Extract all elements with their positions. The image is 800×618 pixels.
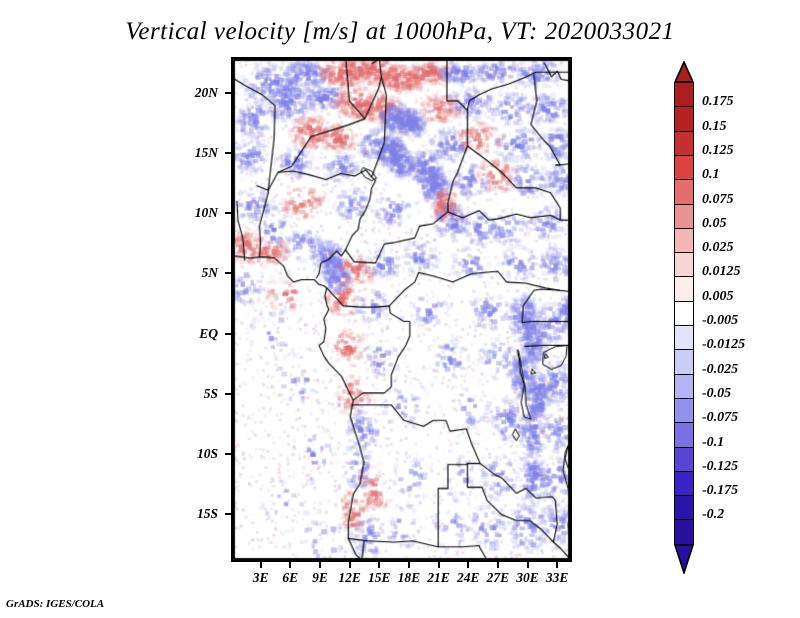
colorbar-bottom-arrow — [674, 544, 694, 574]
colorbar-swatch — [674, 276, 694, 302]
y-axis-label: 10N — [158, 205, 218, 221]
colorbar-tick-label: 0.025 — [702, 241, 734, 255]
y-axis-tick — [225, 272, 231, 274]
x-axis-tick — [438, 562, 440, 568]
y-axis-tick — [225, 152, 231, 154]
colorbar-swatch — [674, 447, 694, 473]
x-axis-tick — [556, 562, 558, 568]
colorbar-swatch — [674, 228, 694, 254]
x-axis-label: 33E — [537, 570, 577, 586]
y-axis-label: 5S — [158, 386, 218, 402]
vertical-velocity-heatmap — [233, 59, 570, 560]
colorbar-swatch — [674, 349, 694, 375]
y-axis-label: 15N — [158, 145, 218, 161]
colorbar-tick-label: -0.025 — [702, 363, 738, 377]
y-axis-tick — [225, 333, 231, 335]
colorbar-swatch — [674, 325, 694, 351]
colorbar-swatch — [674, 82, 694, 108]
y-axis-tick — [225, 393, 231, 395]
y-axis-tick — [225, 513, 231, 515]
x-axis-tick — [319, 562, 321, 568]
y-axis-tick — [225, 92, 231, 94]
x-axis-tick — [378, 562, 380, 568]
colorbar-swatch — [674, 398, 694, 424]
colorbar-swatch — [674, 204, 694, 230]
x-axis-tick — [349, 562, 351, 568]
colorbar-swatch — [674, 471, 694, 497]
y-axis-tick — [225, 453, 231, 455]
y-axis-label: 5N — [158, 265, 218, 281]
colorbar-top-arrow — [674, 61, 694, 83]
x-axis-tick — [497, 562, 499, 568]
x-axis-tick — [527, 562, 529, 568]
y-axis-label: 20N — [158, 85, 218, 101]
colorbar-tick-label: -0.05 — [702, 387, 731, 401]
colorbar-swatch — [674, 131, 694, 157]
y-axis-label: 10S — [158, 446, 218, 462]
colorbar-tick-label: -0.175 — [702, 484, 738, 498]
colorbar-swatch — [674, 519, 694, 545]
colorbar-swatch — [674, 106, 694, 132]
footer-credit: GrADS: IGES/COLA — [6, 598, 104, 610]
colorbar-swatch — [674, 374, 694, 400]
colorbar-tick-label: 0.005 — [702, 290, 734, 304]
colorbar-tick-label: 0.0125 — [702, 265, 741, 279]
colorbar-tick-label: 0.075 — [702, 193, 734, 207]
colorbar-swatch — [674, 179, 694, 205]
x-axis-tick — [260, 562, 262, 568]
colorbar-swatch — [674, 422, 694, 448]
colorbar-swatch — [674, 301, 694, 327]
colorbar-tick-label: 0.15 — [702, 120, 727, 134]
x-axis-tick — [467, 562, 469, 568]
colorbar-swatch — [674, 155, 694, 181]
page-title: Vertical velocity [m/s] at 1000hPa, VT: … — [0, 18, 800, 46]
colorbar-tick-label: 0.175 — [702, 95, 734, 109]
colorbar-swatch — [674, 495, 694, 521]
colorbar-tick-label: -0.125 — [702, 460, 738, 474]
colorbar-tick-label: -0.2 — [702, 508, 724, 522]
colorbar-swatch — [674, 252, 694, 278]
x-axis-tick — [408, 562, 410, 568]
colorbar-tick-label: 0.125 — [702, 144, 734, 158]
y-axis-label: EQ — [158, 326, 218, 342]
colorbar-tick-label: -0.0125 — [702, 338, 745, 352]
map-plot-frame — [231, 57, 572, 562]
colorbar-tick-label: -0.005 — [702, 314, 738, 328]
colorbar-tick-label: -0.075 — [702, 411, 738, 425]
x-axis-tick — [289, 562, 291, 568]
colorbar: 0.1750.150.1250.10.0750.050.0250.01250.0… — [670, 60, 800, 560]
colorbar-tick-label: -0.1 — [702, 436, 724, 450]
colorbar-tick-label: 0.1 — [702, 168, 720, 182]
colorbar-tick-label: 0.05 — [702, 217, 727, 231]
y-axis-label: 15S — [158, 506, 218, 522]
y-axis-tick — [225, 212, 231, 214]
